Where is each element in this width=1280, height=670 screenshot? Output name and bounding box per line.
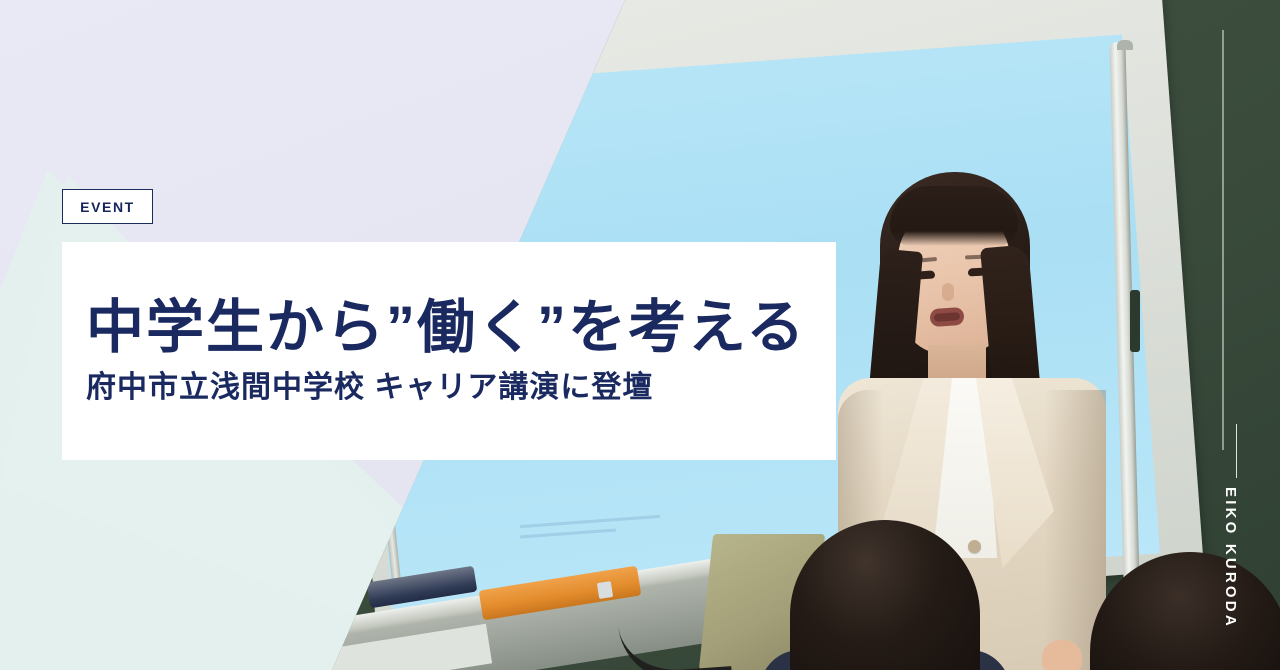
photo-credit: EIKO KURODA (1222, 487, 1250, 629)
photo-credit-label: EIKO KURODA (1222, 487, 1239, 629)
speaker-bangs (890, 186, 1018, 246)
screen-pole-knob (1130, 290, 1140, 352)
credit-divider-line (1236, 424, 1237, 478)
speaker-nose (942, 283, 954, 301)
page-subtitle: 府中市立浅間中学校 キャリア講演に登壇 (86, 370, 836, 406)
cable (618, 614, 732, 670)
pencil-case-label (597, 581, 613, 599)
speaker-hand (1042, 640, 1082, 670)
chalkboard-seam (1222, 30, 1224, 450)
title-card: 中学生から”働く”を考える 府中市立浅間中学校 キャリア講演に登壇 (62, 242, 836, 460)
category-badge: EVENT (62, 189, 153, 224)
screen-pole-cap (1117, 40, 1133, 50)
blazer-button (968, 540, 981, 553)
category-badge-label: EVENT (80, 199, 135, 215)
page-title: 中学生から”働く”を考える (86, 296, 836, 361)
event-banner: EVENT 中学生から”働く”を考える 府中市立浅間中学校 キャリア講演に登壇 … (0, 0, 1280, 670)
